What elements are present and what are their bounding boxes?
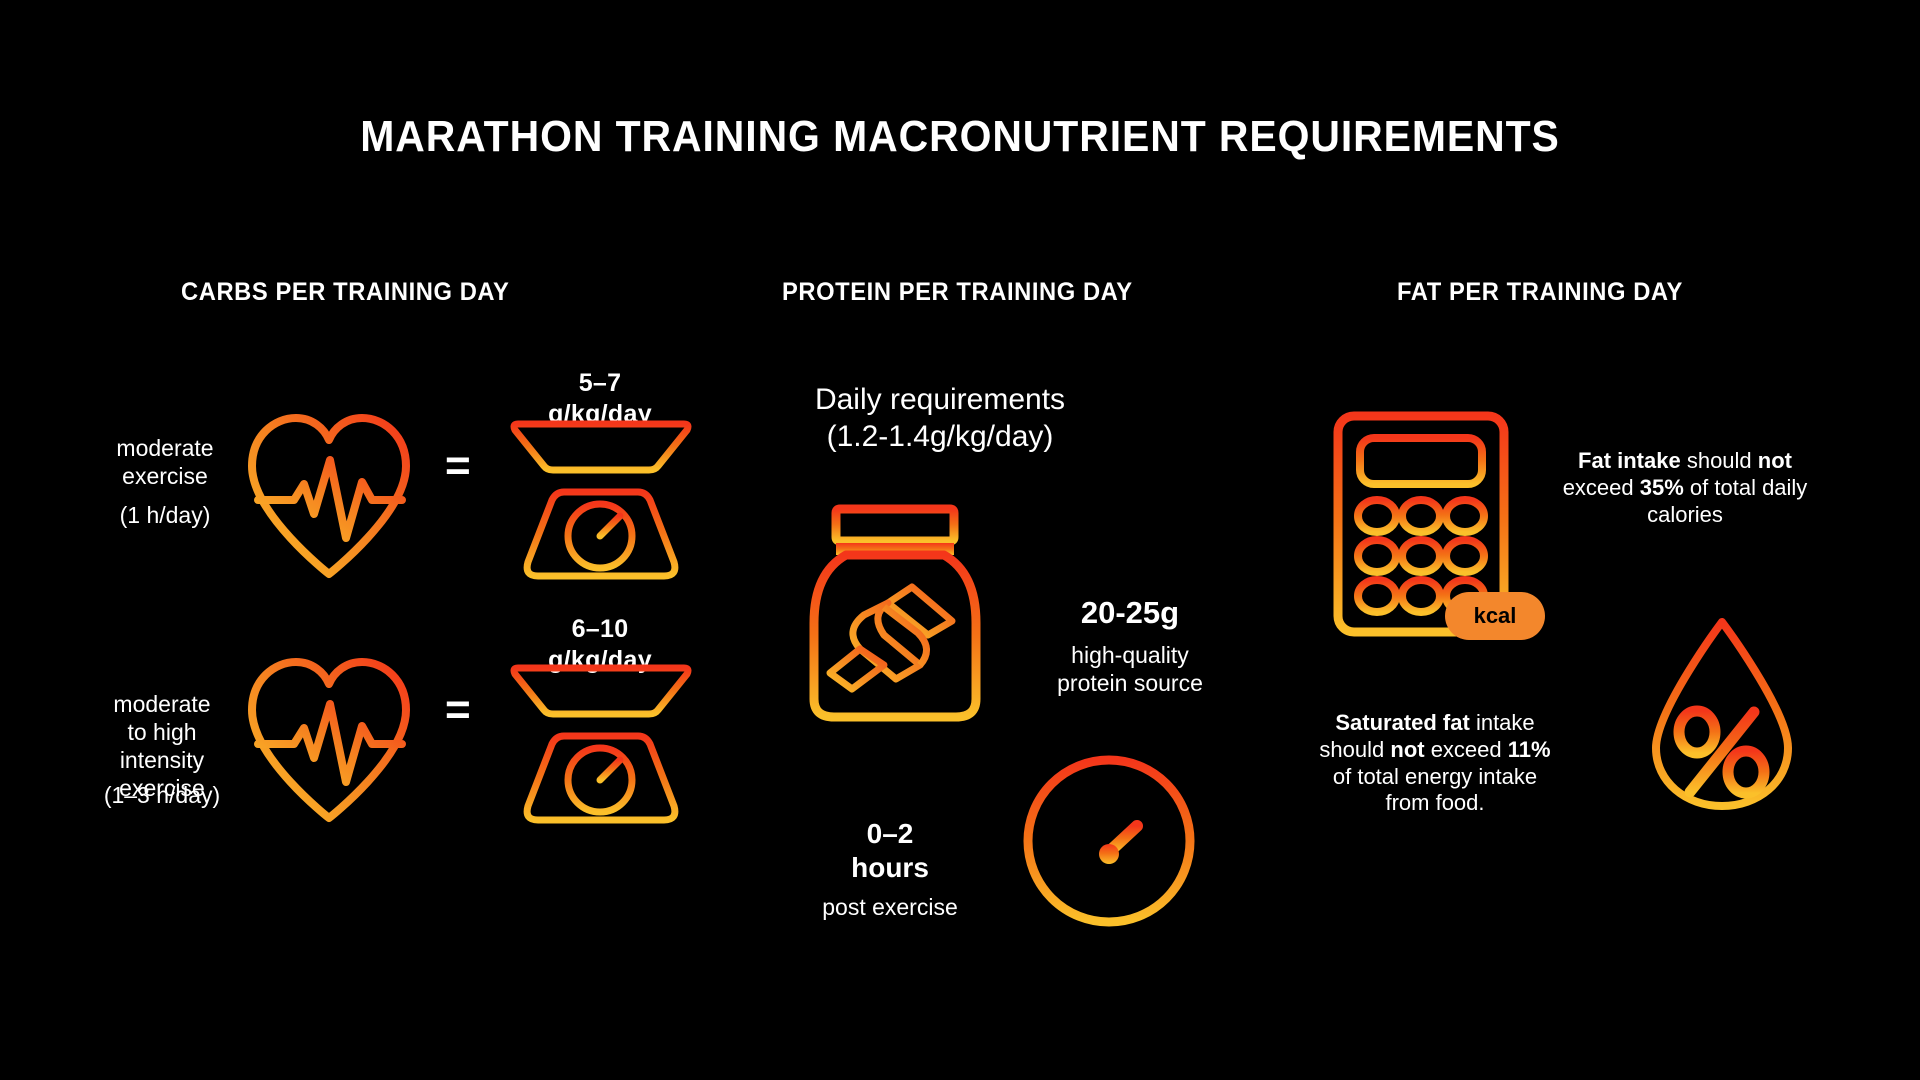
note-segment: Saturated fat — [1335, 710, 1469, 735]
protein-timing-caption: post exercise — [780, 893, 1000, 921]
heart-pulse-icon — [238, 648, 420, 830]
kitchen-scale-icon — [508, 654, 694, 832]
protein-source-caption: high-quality protein source — [1000, 641, 1260, 697]
note-segment: not — [1390, 737, 1424, 762]
protein-daily-requirement: Daily requirements (1.2-1.4g/kg/day) — [730, 382, 1150, 455]
protein-tub-icon — [800, 503, 990, 725]
note-segment: Fat intake — [1578, 448, 1681, 473]
carbs-row-2-equals: = — [445, 688, 471, 732]
note-segment: exceed — [1563, 475, 1640, 500]
water-drop-percent-icon — [1642, 614, 1802, 812]
protein-timing: 0–2 hours — [790, 817, 990, 885]
note-segment: exceed — [1425, 737, 1508, 762]
note-segment: 11% — [1508, 737, 1551, 762]
infographic-canvas: MARATHON TRAINING MACRONUTRIENT REQUIREM… — [0, 0, 1920, 1080]
column-header-fat: FAT PER TRAINING DAY — [1397, 278, 1683, 307]
column-header-protein: PROTEIN PER TRAINING DAY — [782, 278, 1133, 307]
carbs-row-1-equals: = — [445, 444, 471, 488]
note-segment: not — [1758, 448, 1792, 473]
note-segment: of total energy intake from food. — [1333, 764, 1537, 816]
fat-note-saturated: Saturated fat intake should not exceed 1… — [1310, 710, 1560, 817]
protein-amount: 20-25g — [1010, 594, 1250, 632]
fat-note-total-calories: Fat intake should not exceed 35% of tota… — [1560, 448, 1810, 528]
heart-pulse-icon — [238, 404, 420, 586]
note-segment: should — [1681, 448, 1758, 473]
note-segment: 35% — [1640, 475, 1684, 500]
kitchen-scale-icon — [508, 410, 694, 588]
clock-icon — [1020, 752, 1198, 930]
kcal-badge: kcal — [1445, 592, 1545, 640]
page-title: MARATHON TRAINING MACRONUTRIENT REQUIREM… — [67, 112, 1853, 162]
column-header-carbs: CARBS PER TRAINING DAY — [181, 278, 509, 307]
